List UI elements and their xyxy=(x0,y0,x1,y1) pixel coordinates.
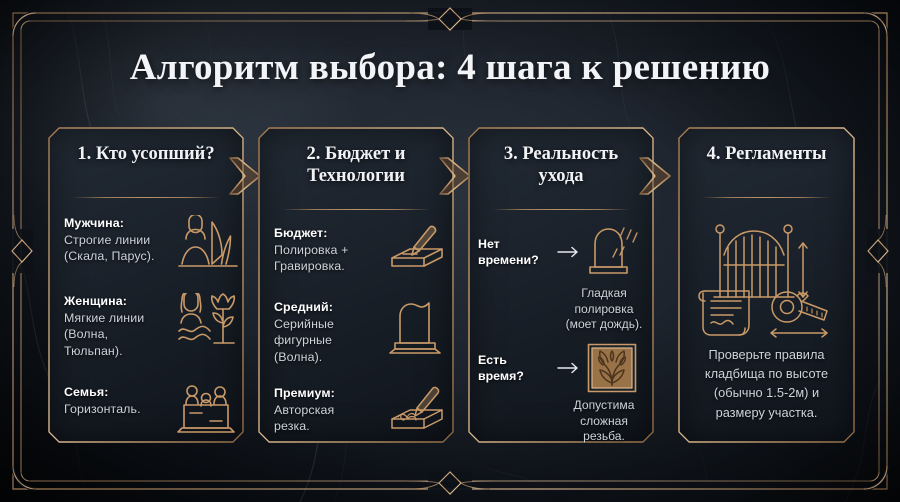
card-1-row-1: Мужчина: Строгие линии (Скала, Парус). xyxy=(64,215,232,273)
card-2-row-3: Премиум: Авторская резка. xyxy=(274,385,442,439)
card-3-block-2-caption: Допустима сложная резьба. xyxy=(478,398,644,445)
cemetery-gate-scroll-tape-icon xyxy=(678,219,855,343)
card-1-row-1-label: Мужчина: xyxy=(64,215,176,232)
man-sail-icon xyxy=(176,215,240,273)
card-1-divider xyxy=(72,197,220,198)
card-4-divider xyxy=(702,197,831,198)
custom-carving-chisel-icon xyxy=(386,385,448,439)
card-2-row-2: Средний: Серийные фигурные (Волна). xyxy=(274,299,442,365)
card-4-title: 4. Регламенты xyxy=(690,143,843,165)
card-2-row-1-desc: Полировка + Гравировка. xyxy=(274,242,386,275)
step-card-4[interactable]: 4. Регламенты xyxy=(678,127,855,443)
steps-container: 1. Кто усопший? Мужчина: Строгие линии (… xyxy=(0,127,900,447)
step-card-3[interactable]: 3. Реальность ухода Нет времени? xyxy=(468,127,654,443)
card-3-body: Нет времени? xyxy=(468,223,654,433)
card-2-row-1: Бюджет: Полировка + Гравировка. xyxy=(274,225,442,277)
card-4-text: Проверьте правила кладбища по высоте (об… xyxy=(692,345,841,422)
woman-tulip-wave-icon xyxy=(176,293,240,353)
card-3-block-1-question: Нет времени? xyxy=(478,236,556,269)
engraving-tool-slab-icon xyxy=(386,225,448,277)
card-1-row-3: Семья: Горизонталь. xyxy=(64,384,232,438)
card-3-divider xyxy=(492,209,630,210)
card-3-block-1: Нет времени? xyxy=(478,223,644,333)
card-2-row-2-label: Средний: xyxy=(274,299,386,316)
card-2-row-2-desc: Серийные фигурные (Волна). xyxy=(274,316,386,366)
diamond-ornament-bottom xyxy=(406,472,494,494)
card-1-row-3-label: Семья: xyxy=(64,384,176,401)
shaped-wave-headstone-icon xyxy=(386,299,444,357)
arrow-right-icon-2 xyxy=(556,362,580,374)
card-1-row-2-desc: Мягкие линии (Волна, Тюльпан). xyxy=(64,310,176,360)
ornate-carved-relief-icon xyxy=(580,343,644,393)
diamond-ornament-top xyxy=(406,8,494,30)
infographic-stage: Алгоритм выбора: 4 шага к решению 1. Кто… xyxy=(0,0,900,502)
card-3-title: 3. Реальность ухода xyxy=(480,143,642,187)
card-2-title: 2. Бюджет и Технологии xyxy=(270,143,442,187)
card-2-body: Бюджет: Полировка + Гравировка. xyxy=(258,225,454,433)
card-2-row-3-label: Премиум: xyxy=(274,385,386,402)
card-4-body: Проверьте правила кладбища по высоте (об… xyxy=(678,213,855,433)
card-3-block-2: Есть время? xyxy=(478,343,644,445)
family-horizontal-monument-icon xyxy=(176,384,238,438)
card-3-block-2-question: Есть время? xyxy=(478,352,556,385)
card-1-row-3-desc: Горизонталь. xyxy=(64,401,176,418)
card-2-divider xyxy=(282,209,430,210)
card-1-row-1-desc: Строгие линии (Скала, Парус). xyxy=(64,232,176,265)
step-card-1[interactable]: 1. Кто усопший? Мужчина: Строгие линии (… xyxy=(48,127,244,443)
card-1-row-2: Женщина: Мягкие линии (Волна, Тюльпан). xyxy=(64,293,232,359)
card-3-block-1-caption: Гладкая полировка (моет дождь). xyxy=(478,286,644,333)
page-title: Алгоритм выбора: 4 шага к решению xyxy=(0,46,900,89)
step-card-2[interactable]: 2. Бюджет и Технологии Бюджет: Полировка… xyxy=(258,127,454,443)
card-1-body: Мужчина: Строгие линии (Скала, Парус). xyxy=(48,213,244,433)
arrow-right-icon-1 xyxy=(556,246,580,258)
card-1-title: 1. Кто усопший? xyxy=(60,143,232,165)
card-2-row-3-desc: Авторская резка. xyxy=(274,402,386,435)
card-1-row-2-label: Женщина: xyxy=(64,293,176,310)
rain-polished-stone-icon xyxy=(580,223,644,281)
card-2-row-1-label: Бюджет: xyxy=(274,225,386,242)
